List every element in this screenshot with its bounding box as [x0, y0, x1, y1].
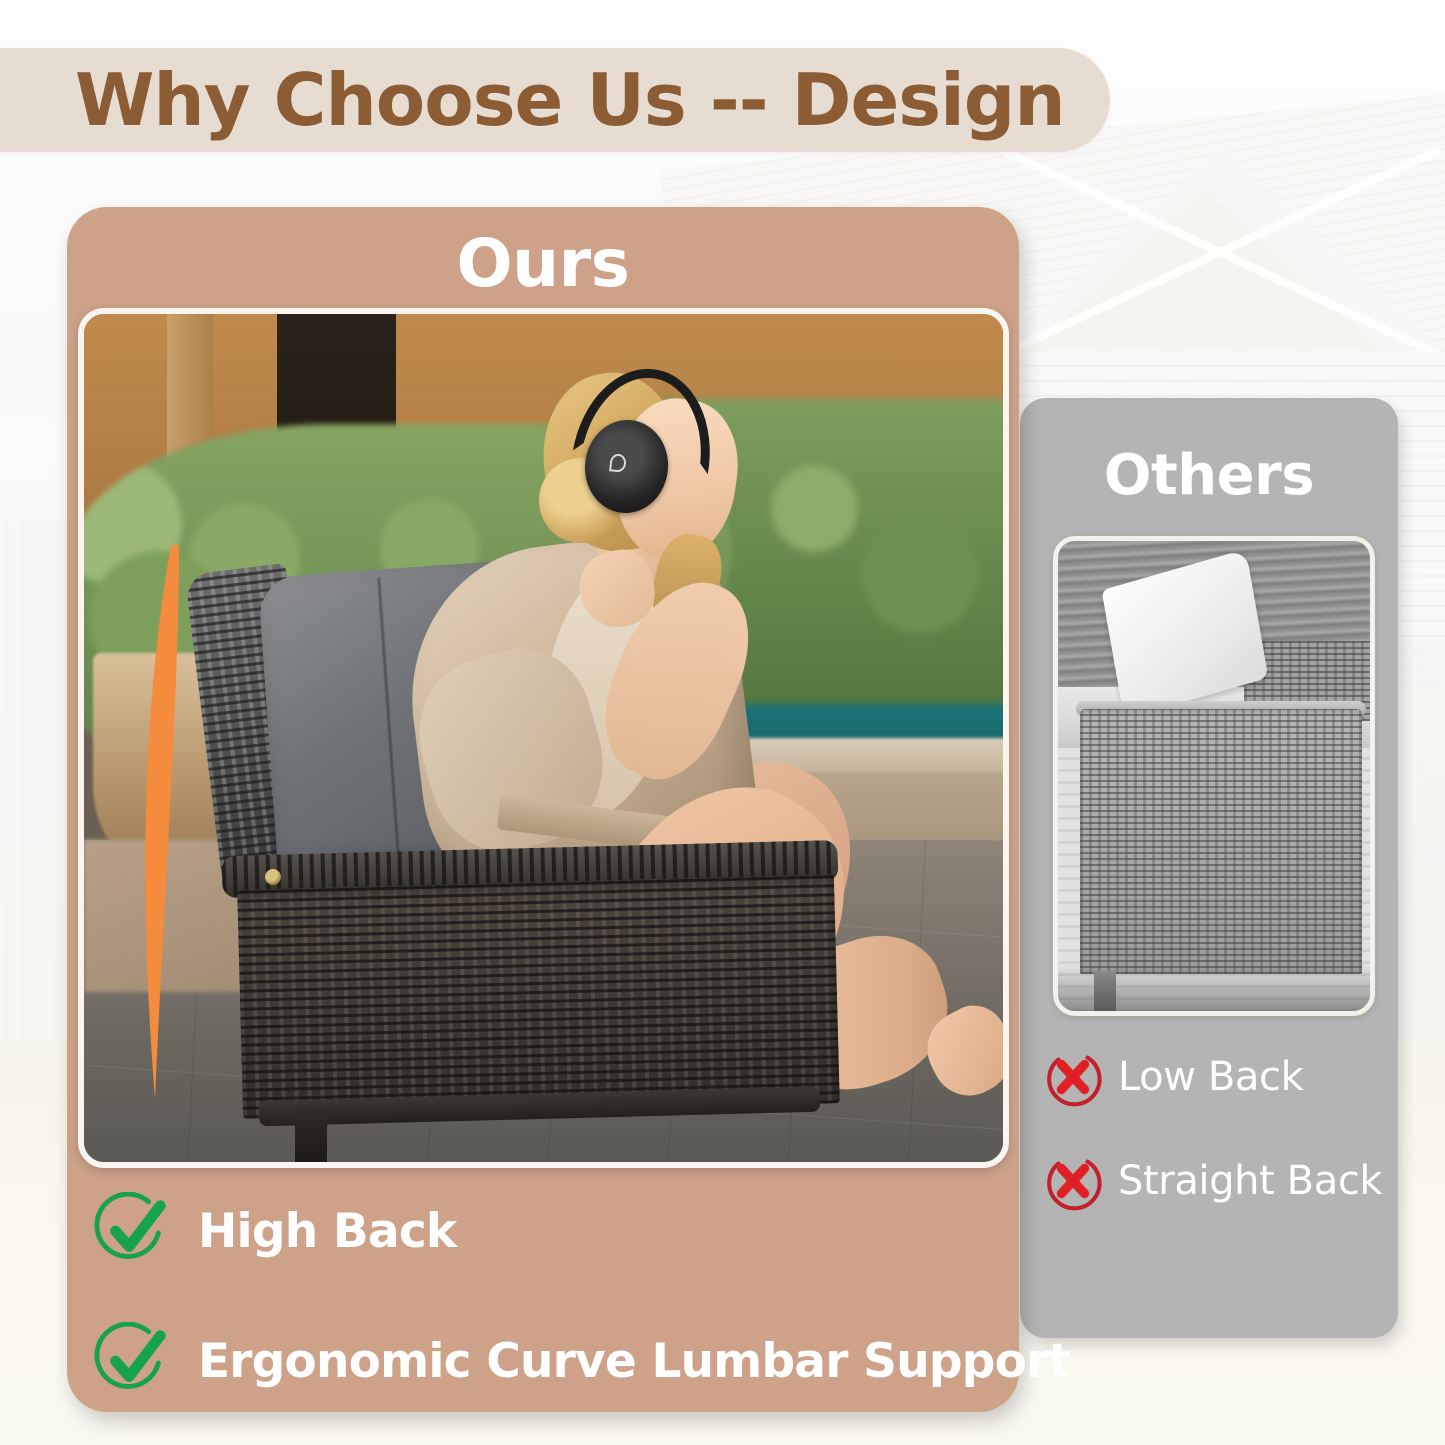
check-circle-icon [94, 1322, 172, 1400]
others-panel-title: Others [1020, 448, 1398, 504]
ours-panel: Ours [67, 207, 1019, 1412]
others-photo-shadow [1058, 965, 1370, 1011]
photo-chair-leg [295, 1111, 326, 1168]
x-circle-icon [1042, 1046, 1104, 1108]
others-feature-label: Low Back [1118, 1057, 1303, 1097]
ours-panel-title: Ours [67, 231, 1019, 297]
photo-chair-wicker-side [237, 874, 840, 1119]
x-circle-icon [1042, 1150, 1104, 1212]
others-photo-wicker-body [1080, 709, 1362, 974]
ours-product-photo [78, 308, 1009, 1168]
others-panel: Others Low Back [1020, 398, 1398, 1338]
list-item: High Back [94, 1192, 994, 1270]
check-circle-icon [94, 1192, 172, 1270]
others-feature-label: Straight Back [1118, 1161, 1382, 1201]
list-item: Straight Back [1042, 1150, 1398, 1212]
others-feature-list: Low Back Straight Back [1042, 1046, 1398, 1254]
ours-feature-label: Ergonomic Curve Lumbar Support [198, 1338, 1070, 1385]
list-item: Low Back [1042, 1046, 1398, 1108]
ours-feature-label: High Back [198, 1208, 456, 1255]
list-item: Ergonomic Curve Lumbar Support [94, 1322, 994, 1400]
page-title-bar: Why Choose Us -- Design [0, 48, 1110, 152]
others-product-photo [1053, 536, 1375, 1016]
page-title: Why Choose Us -- Design [75, 64, 1065, 136]
ours-feature-list: High Back Ergonomic Curve Lumbar Support [94, 1192, 994, 1445]
infographic-canvas: Others Low Back [0, 0, 1445, 1445]
